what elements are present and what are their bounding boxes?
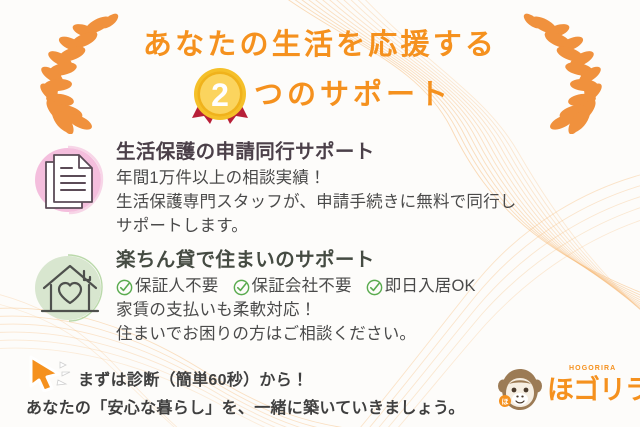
- support-2-icon-badge: [26, 246, 108, 334]
- house-heart-icon: [40, 258, 100, 320]
- support-item-housing: 楽ちん貸で住まいのサポート 保証人不要 保証会社不要: [0, 246, 640, 347]
- circle-check-icon: [116, 279, 133, 296]
- svg-text:ほ: ほ: [502, 398, 509, 406]
- support-item-welfare-application: 生活保護の申請同行サポート 年間1万件以上の相談実績！ 生活保護専門スタッフが、…: [0, 138, 640, 239]
- support-1-line-1: 年間1万件以上の相談実績！: [116, 167, 640, 191]
- brand-logo[interactable]: ほ HOGORIRA ほゴリラ: [496, 364, 630, 416]
- footer-line-2: あなたの「安心な暮らし」を、一緒に築いていきましょう。: [26, 394, 465, 418]
- gold-medal-icon: 2: [188, 62, 252, 126]
- check-item-3-label: 即日入居OK: [385, 275, 476, 299]
- gorilla-mascot-icon: ほ: [496, 366, 544, 414]
- brand-romaji: HOGORIRA: [569, 365, 616, 372]
- documents-icon: [40, 150, 100, 212]
- support-1-title: 生活保護の申請同行サポート: [116, 140, 640, 164]
- support-1-body: 生活保護の申請同行サポート 年間1万件以上の相談実績！ 生活保護専門スタッフが、…: [116, 138, 640, 239]
- check-item-2: 保証会社不要: [233, 275, 352, 299]
- brand-kana: ほゴリラ: [547, 377, 640, 404]
- support-2-check-row: 保証人不要 保証会社不要 即日入居OK: [116, 275, 640, 299]
- click-cursor-icon: [26, 354, 78, 392]
- support-1-icon-badge: [26, 138, 108, 226]
- support-1-line-2: 生活保護専門スタッフが、申請手続きに無料で同行し: [116, 191, 640, 215]
- headline-line-2-row: 2 つのサポート: [0, 62, 640, 126]
- support-1-line-3: サポートします。: [116, 215, 640, 239]
- footer-line-1: まずは診断（簡単60秒）から！: [78, 366, 308, 390]
- headline-line-1: あなたの生活を応援する: [0, 21, 640, 63]
- support-2-line-2: 住まいでお困りの方はご相談ください。: [116, 323, 640, 347]
- banner-footer: まずは診断（簡単60秒）から！ あなたの「安心な暮らし」を、一緒に築いていきまし…: [0, 352, 640, 427]
- support-2-line-1: 家賃の支払いも柔軟対応！: [116, 299, 640, 323]
- medal-number: 2: [211, 77, 229, 113]
- check-item-3: 即日入居OK: [366, 275, 476, 299]
- circle-check-icon: [233, 279, 250, 296]
- check-item-2-label: 保証会社不要: [252, 275, 352, 299]
- circle-check-icon: [366, 279, 383, 296]
- headline-line-2-text: つのサポート: [254, 71, 452, 117]
- check-item-1-label: 保証人不要: [135, 275, 219, 299]
- brand-wordmark: HOGORIRA ほゴリラ: [547, 377, 640, 404]
- promo-banner: あなたの生活を応援する 2 つのサポート: [0, 0, 640, 427]
- banner-header: あなたの生活を応援する 2 つのサポート: [0, 0, 640, 132]
- support-2-title: 楽ちん貸で住まいのサポート: [116, 248, 640, 272]
- check-item-1: 保証人不要: [116, 275, 219, 299]
- support-2-body: 楽ちん貸で住まいのサポート 保証人不要 保証会社不要: [116, 246, 640, 347]
